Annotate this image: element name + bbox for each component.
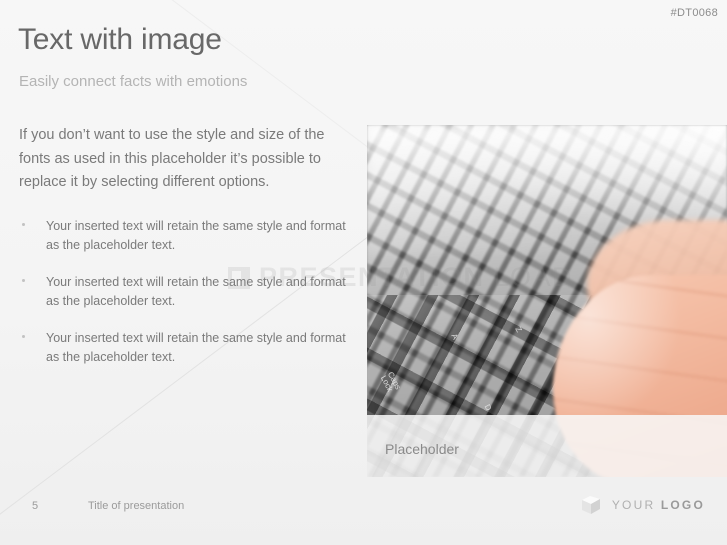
bullet-dot-icon	[22, 279, 25, 282]
slide: #DT0068 Text with image Easily connect f…	[0, 0, 727, 545]
list-item: Your inserted text will retain the same …	[19, 273, 349, 311]
logo-prefix: YOUR	[612, 498, 661, 512]
list-item-label: Your inserted text will retain the same …	[46, 331, 346, 364]
footer-page-number: 5	[32, 500, 38, 512]
footer-title: Title of presentation	[88, 500, 184, 512]
page-title: Text with image	[18, 23, 222, 57]
bullet-list: Your inserted text will retain the same …	[19, 217, 349, 367]
list-item-label: Your inserted text will retain the same …	[46, 275, 346, 308]
text-column: If you don’t want to use the style and s…	[19, 124, 349, 385]
list-item: Your inserted text will retain the same …	[19, 217, 349, 255]
body-paragraph: If you don’t want to use the style and s…	[19, 124, 349, 195]
bullet-dot-icon	[22, 335, 25, 338]
image-caption: Placeholder	[385, 441, 459, 457]
list-item-label: Your inserted text will retain the same …	[46, 219, 346, 252]
logo-name: LOGO	[661, 498, 705, 512]
image-placeholder[interactable]: Caps Lock A Z D Placeholder	[367, 125, 727, 477]
list-item: Your inserted text will retain the same …	[19, 329, 349, 367]
logo[interactable]: YOUR LOGO	[579, 493, 705, 517]
template-code: #DT0068	[671, 7, 718, 19]
page-subtitle: Easily connect facts with emotions	[19, 72, 247, 92]
bullet-dot-icon	[22, 223, 25, 226]
logo-text: YOUR LOGO	[612, 498, 705, 512]
cube-icon	[579, 493, 603, 517]
